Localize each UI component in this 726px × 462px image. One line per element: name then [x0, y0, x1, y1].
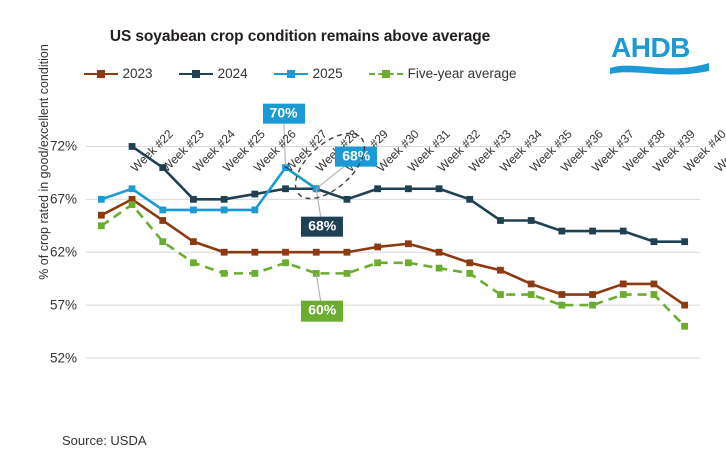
chart-container: US soyabean crop condition remains above…	[0, 0, 726, 462]
y-axis-tick-label: 67%	[50, 192, 77, 207]
legend-label: 2024	[218, 66, 248, 81]
y-axis-tick-label: 52%	[50, 351, 77, 366]
page-title: US soyabean crop condition remains above…	[0, 28, 600, 46]
svg-text:AHDB: AHDB	[611, 32, 690, 63]
y-axis-title: % of crop rated in good/excellent condit…	[37, 22, 51, 302]
ahdb-logo: AHDB	[607, 28, 712, 76]
data-label-2024: 68%	[301, 216, 343, 237]
legend-swatch-icon	[369, 67, 403, 81]
data-label-2025: 70%	[263, 103, 305, 124]
legend-swatch-icon	[84, 67, 118, 81]
source-note: Source: USDA	[62, 433, 147, 448]
highlight-ellipse	[282, 126, 402, 216]
legend-swatch-icon	[274, 67, 308, 81]
y-axis-tick-label: 62%	[50, 245, 77, 260]
plot-area: 52%57%62%67%72% Week #22Week #23Week #24…	[86, 120, 700, 358]
legend-item-five-year-average[interactable]: Five-year average	[369, 66, 517, 81]
y-axis-tick-label: 57%	[50, 298, 77, 313]
data-label-five-year-average: 60%	[301, 301, 343, 322]
legend-item-2024[interactable]: 2024	[179, 66, 248, 81]
legend-label: Five-year average	[408, 66, 517, 81]
y-axis-tick-label: 72%	[50, 139, 77, 154]
legend-swatch-icon	[179, 67, 213, 81]
legend-label: 2025	[313, 66, 343, 81]
legend-label: 2023	[123, 66, 153, 81]
chart-legend: 202320242025Five-year average	[0, 66, 600, 81]
legend-item-2025[interactable]: 2025	[274, 66, 343, 81]
legend-item-2023[interactable]: 2023	[84, 66, 153, 81]
